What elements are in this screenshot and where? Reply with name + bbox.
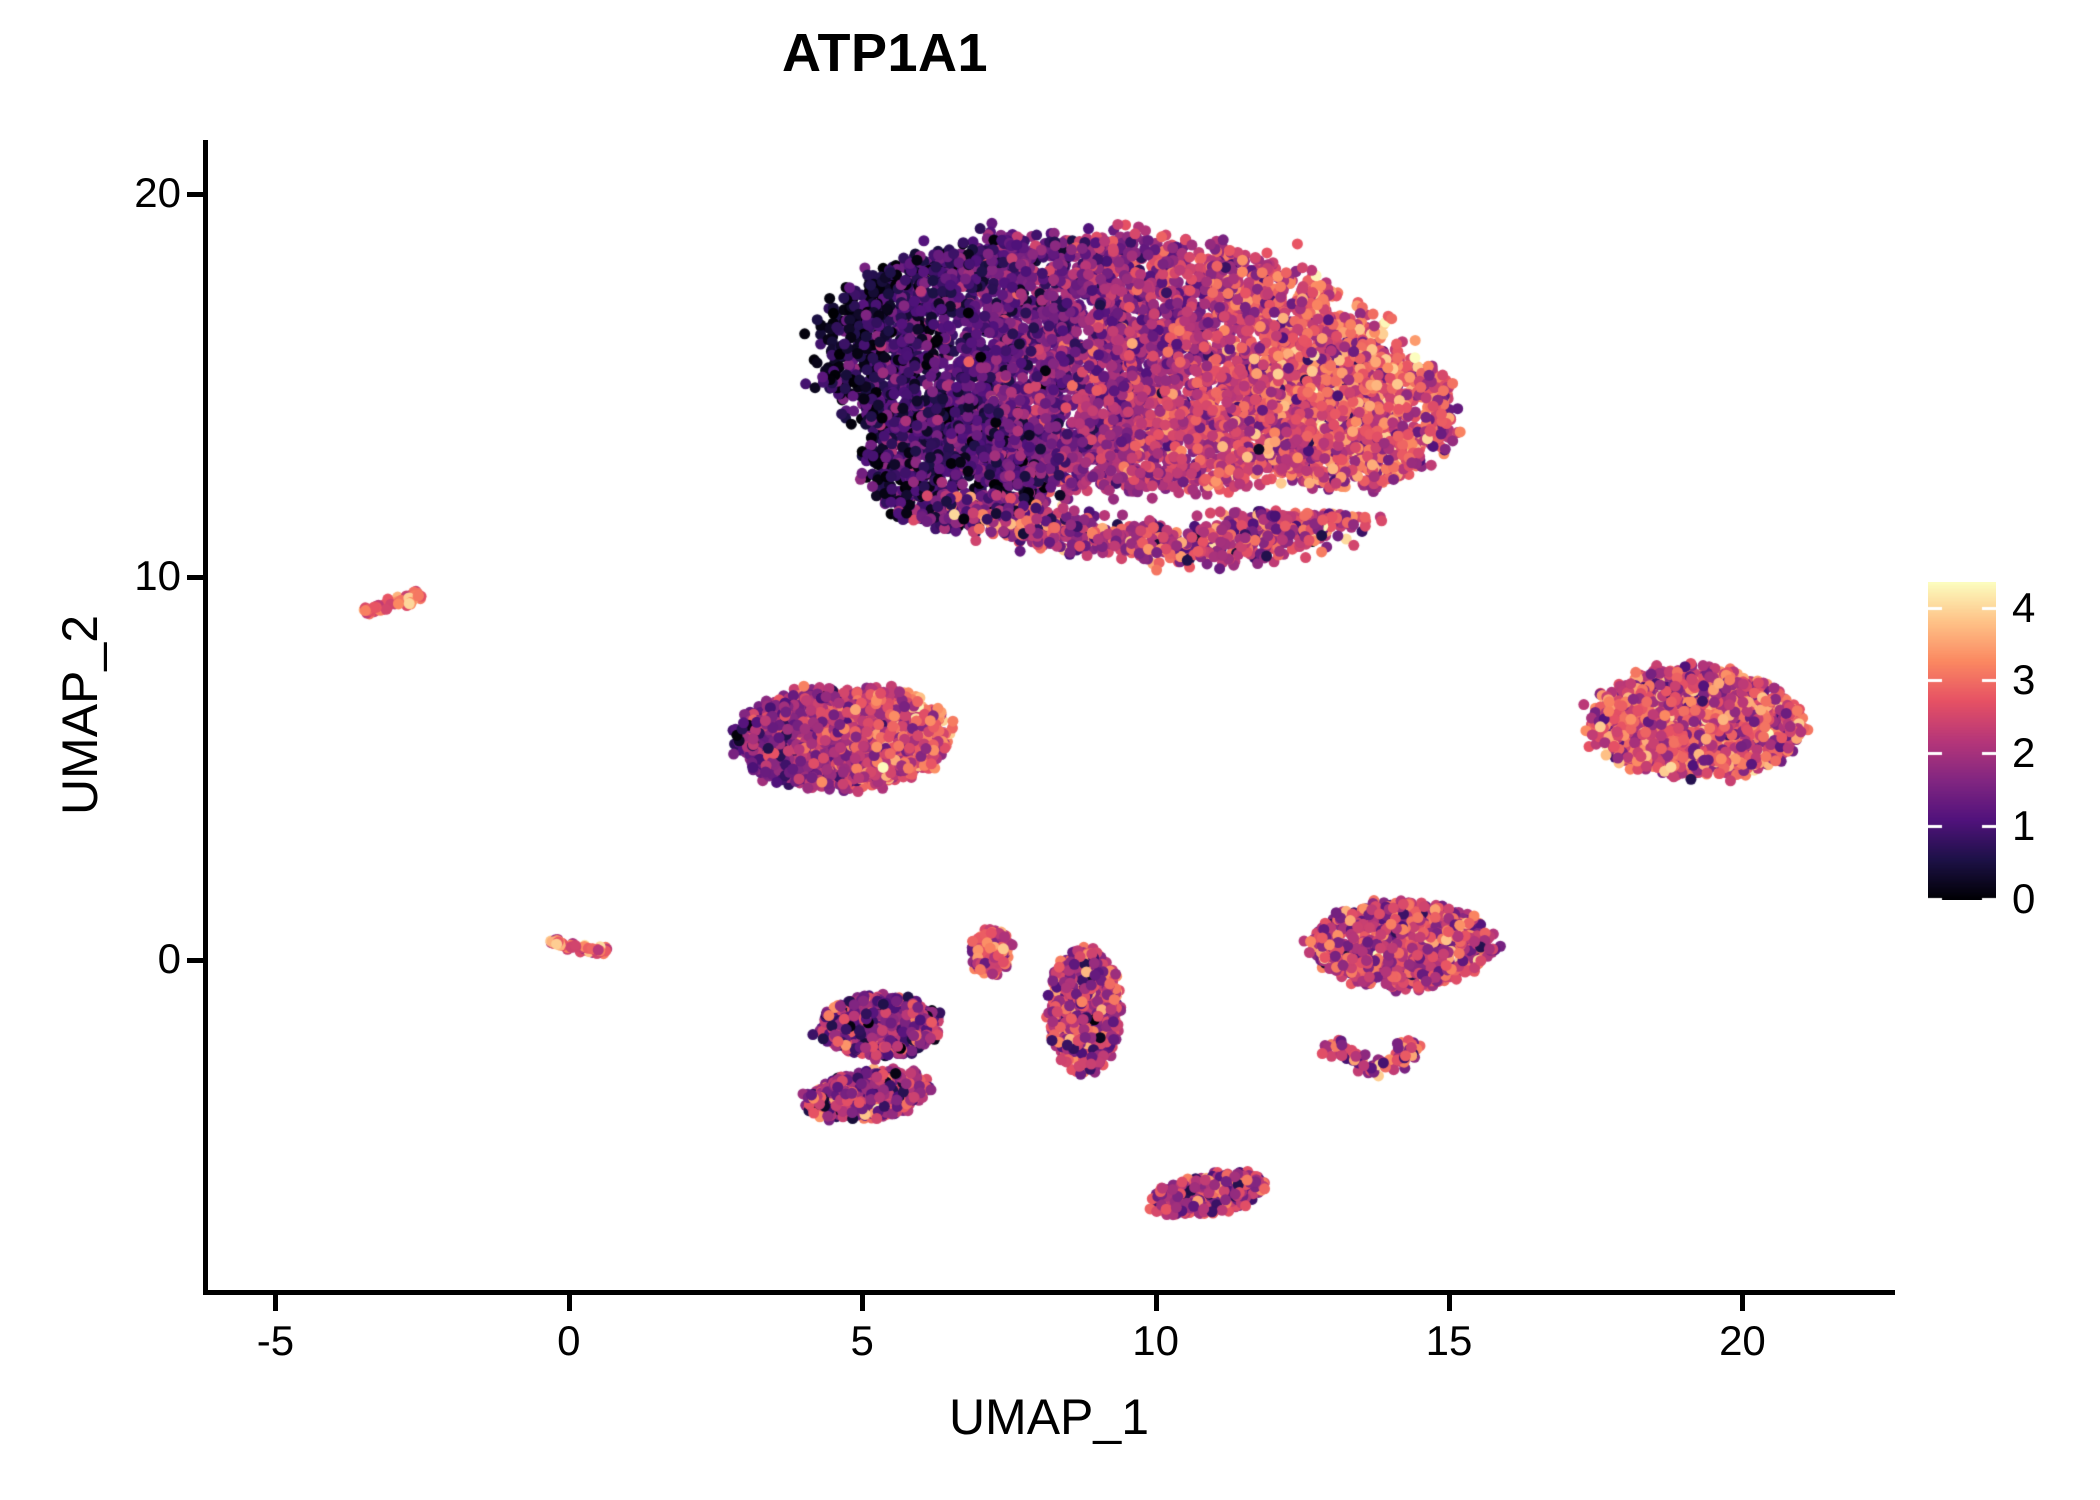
y-tick-label: 0: [158, 938, 181, 980]
y-tick-mark: [187, 192, 203, 197]
x-tick-label: 20: [1642, 1320, 1842, 1362]
colorbar-tick-label: 4: [2012, 587, 2035, 629]
x-tick-label: 5: [762, 1320, 962, 1362]
x-tick-label: 0: [469, 1320, 669, 1362]
y-axis-title-wrap: UMAP_2: [0, 0, 110, 1500]
x-tick-mark: [1154, 1295, 1159, 1311]
x-tick-mark: [567, 1295, 572, 1311]
x-axis-title: UMAP_1: [203, 1392, 1895, 1442]
x-tick-mark: [1740, 1295, 1745, 1311]
x-tick-mark: [1447, 1295, 1452, 1311]
y-axis-line: [203, 140, 208, 1294]
colorbar-tick-label: 2: [2012, 732, 2035, 774]
scatter-plot-canvas: [0, 0, 2100, 1500]
x-axis-line: [203, 1290, 1895, 1295]
x-tick-mark: [273, 1295, 278, 1311]
x-tick-label: 15: [1349, 1320, 1549, 1362]
colorbar-legend: [1928, 582, 1996, 900]
y-axis-title: UMAP_2: [55, 115, 105, 1315]
x-tick-mark: [860, 1295, 865, 1311]
colorbar-tick-label: 1: [2012, 805, 2035, 847]
y-tick-label: 20: [134, 172, 181, 214]
colorbar-tick-label: 0: [2012, 878, 2035, 920]
colorbar-tick-label: 3: [2012, 659, 2035, 701]
colorbar-gradient: [1928, 582, 1996, 900]
x-tick-label: -5: [175, 1320, 375, 1362]
y-tick-mark: [187, 958, 203, 963]
y-tick-label: 10: [134, 555, 181, 597]
umap-feature-plot: ATP1A1 01020 -505101520 UMAP_1 UMAP_2 01…: [0, 0, 2100, 1500]
y-tick-mark: [187, 575, 203, 580]
x-tick-label: 10: [1056, 1320, 1256, 1362]
